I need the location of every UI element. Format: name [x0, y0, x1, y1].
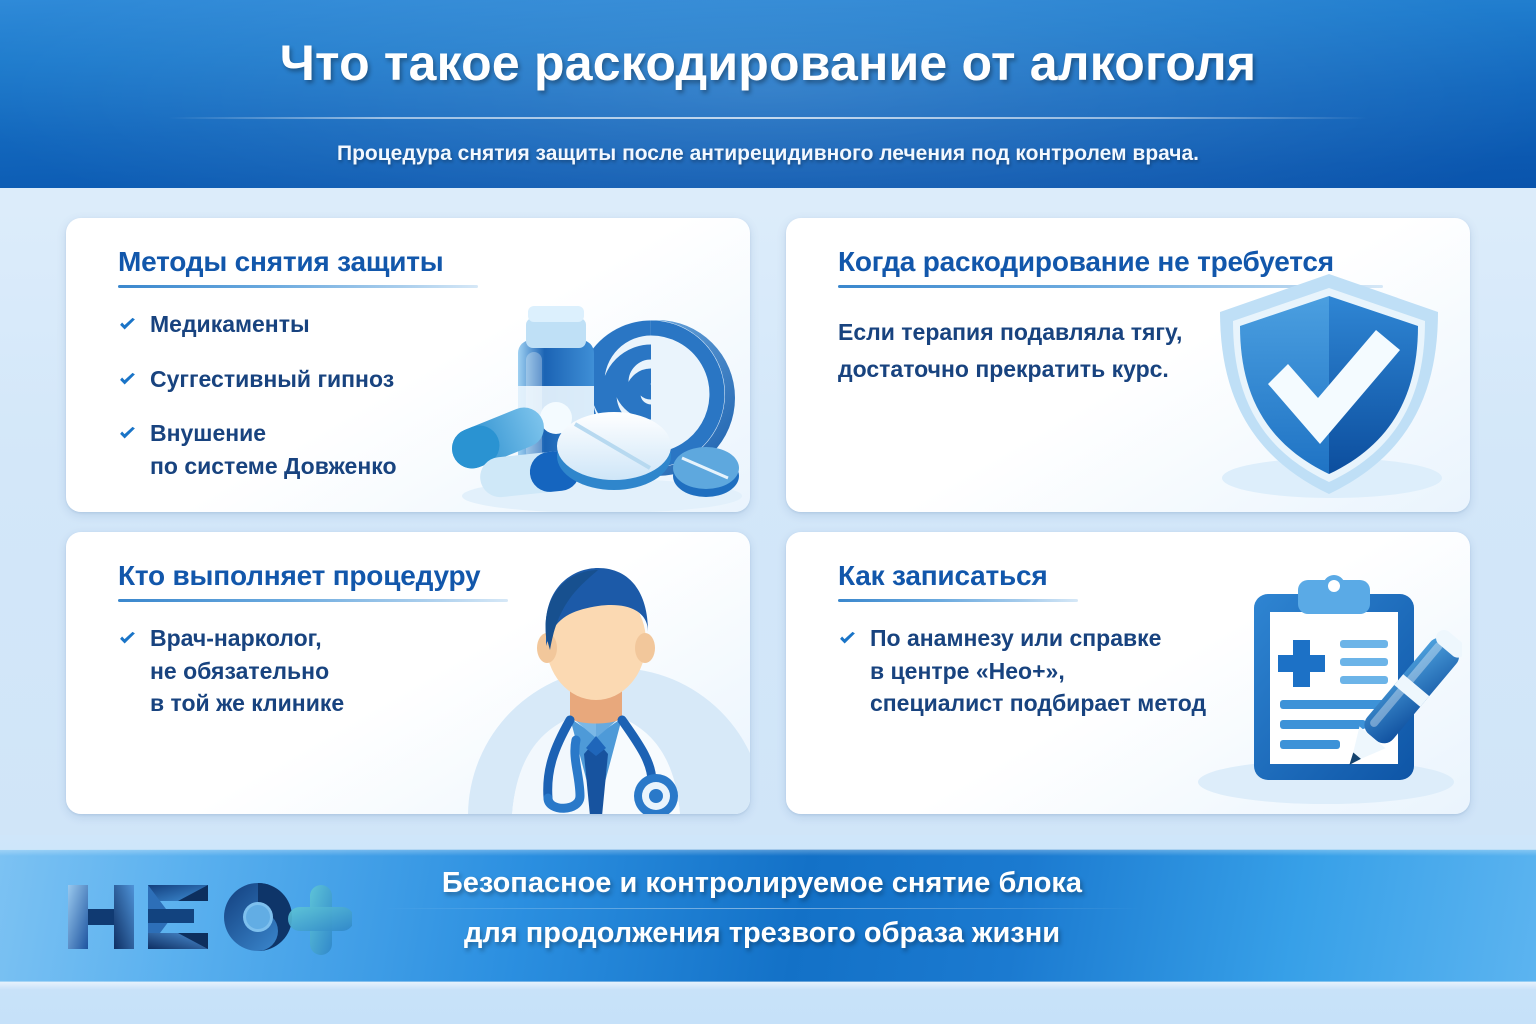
neo-plus-logo — [62, 871, 352, 963]
card-how-to-book: Как записаться По анамнезу или справке в… — [786, 532, 1470, 814]
list-item-label: По анамнезу или справке в центре «Нео+»,… — [870, 622, 1206, 720]
list-item-label: Суггестивный гипноз — [150, 363, 394, 396]
footer-divider — [382, 908, 1142, 909]
card-title: Когда раскодирование не требуется — [838, 246, 1430, 278]
card-title: Кто выполняет процедуру — [118, 560, 710, 592]
card-title: Как записаться — [838, 560, 1430, 592]
shield-check-illustration — [1204, 264, 1454, 508]
footer-band: Безопасное и контролируемое снятие блока… — [0, 849, 1536, 982]
cards-grid: Методы снятия защиты Медикаменты Суггест… — [66, 218, 1470, 814]
list-item: По анамнезу или справке в центре «Нео+»,… — [838, 622, 1206, 720]
card-title-underline — [838, 285, 1383, 288]
card-title-underline — [838, 599, 1078, 602]
page-subtitle: Процедура снятия защиты после антирециди… — [0, 142, 1536, 166]
page-title: Что такое раскодирование от алкоголя — [0, 34, 1536, 92]
pills-spiral-illustration — [442, 278, 750, 512]
card-who-performs: Кто выполняет процедуру Врач-нарколог, н… — [66, 532, 750, 814]
list-item: Суггестивный гипноз — [118, 363, 397, 396]
page-footer: Безопасное и контролируемое снятие блока… — [0, 835, 1536, 1024]
card-body-text: Если терапия подавляла тягу, достаточно … — [838, 314, 1182, 388]
check-icon — [118, 424, 137, 443]
list-item-label: Медикаменты — [150, 308, 310, 341]
card-bullet-list: Медикаменты Суггестивный гипноз Внушение… — [118, 308, 397, 505]
clipboard-pen-illustration — [1194, 568, 1462, 808]
card-methods: Методы снятия защиты Медикаменты Суггест… — [66, 218, 750, 512]
card-header: Кто выполняет процедуру — [118, 560, 710, 602]
card-header: Когда раскодирование не требуется — [838, 246, 1430, 288]
check-icon — [118, 629, 137, 648]
footer-line-1: Безопасное и контролируемое снятие блока — [352, 865, 1172, 902]
card-header: Методы снятия защиты — [118, 246, 710, 288]
card-title-underline — [118, 599, 508, 602]
footer-line-2: для продолжения трезвого образа жизни — [352, 915, 1172, 952]
list-item-label: Внушение по системе Довженко — [150, 417, 397, 482]
list-item-label: Врач-нарколог, не обязательно в той же к… — [150, 622, 344, 720]
footer-slogan: Безопасное и контролируемое снятие блока… — [352, 865, 1172, 952]
card-header: Как записаться — [838, 560, 1430, 602]
card-when-not-needed: Когда раскодирование не требуется Если т… — [786, 218, 1470, 512]
page-header: Что такое раскодирование от алкоголя Про… — [0, 0, 1536, 188]
header-divider — [168, 117, 1368, 119]
list-item: Медикаменты — [118, 308, 397, 341]
card-title: Методы снятия защиты — [118, 246, 710, 278]
check-icon — [118, 370, 137, 389]
list-item: Врач-нарколог, не обязательно в той же к… — [118, 622, 344, 720]
list-item: Внушение по системе Довженко — [118, 417, 397, 482]
card-title-underline — [118, 285, 478, 288]
check-icon — [118, 315, 137, 334]
check-icon — [838, 629, 857, 648]
card-bullet-list: По анамнезу или справке в центре «Нео+»,… — [838, 622, 1206, 742]
card-bullet-list: Врач-нарколог, не обязательно в той же к… — [118, 622, 344, 742]
